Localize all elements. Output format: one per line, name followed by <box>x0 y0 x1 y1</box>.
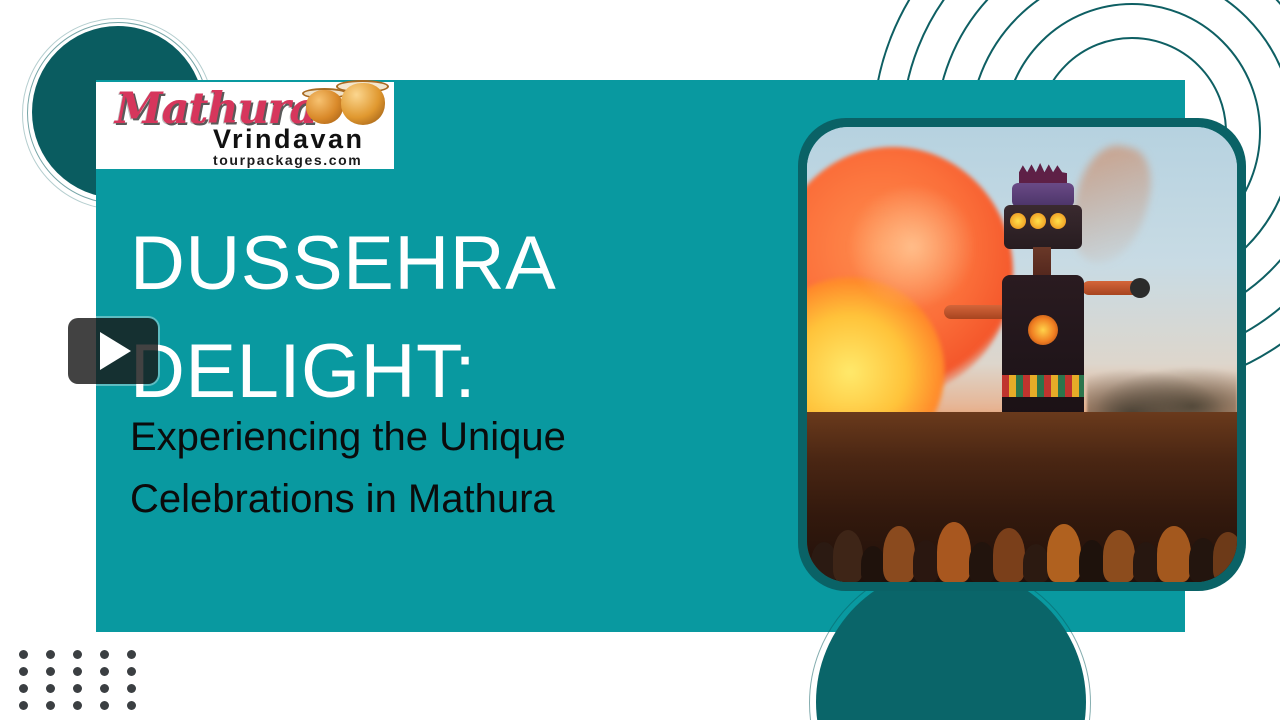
play-icon <box>100 332 131 370</box>
page-title: DUSSEHRA DELIGHT: <box>130 210 770 426</box>
logo-vrindavan-text: Vrindavan <box>213 124 365 155</box>
effigy-left-arm <box>944 305 1010 319</box>
smoke-wisp-icon <box>847 187 977 307</box>
crown-icon <box>1019 163 1067 185</box>
logo-domain-text: tourpackages.com <box>213 152 362 168</box>
page-subtitle-line-2: Celebrations in Mathura <box>130 468 730 530</box>
effigy-sash <box>1002 375 1084 397</box>
clay-pot-icon-b <box>341 83 385 125</box>
effigy-neck <box>1033 247 1051 277</box>
effigy-right-arm <box>1082 281 1144 295</box>
effigy-head <box>1012 183 1074 207</box>
clay-pot-icon-a <box>306 90 343 124</box>
festival-crowd <box>807 412 1237 582</box>
effigy-body <box>1002 275 1084 425</box>
presentation-slide: Mathura Vrindavan tourpackages.com DUSSE… <box>0 0 1280 720</box>
dot-grid-decoration <box>19 650 154 718</box>
photo-card <box>798 118 1246 591</box>
play-button[interactable] <box>68 318 158 384</box>
page-subtitle-line-1: Experiencing the Unique <box>130 406 730 468</box>
effigy-medallion <box>1028 315 1058 345</box>
brand-logo[interactable]: Mathura Vrindavan tourpackages.com <box>96 82 394 169</box>
effigy-faces <box>1004 205 1082 249</box>
page-title-line-1: DUSSEHRA <box>130 210 770 318</box>
page-subtitle: Experiencing the Unique Celebrations in … <box>130 406 730 530</box>
dussehra-ravana-effigy-photo <box>807 127 1237 582</box>
